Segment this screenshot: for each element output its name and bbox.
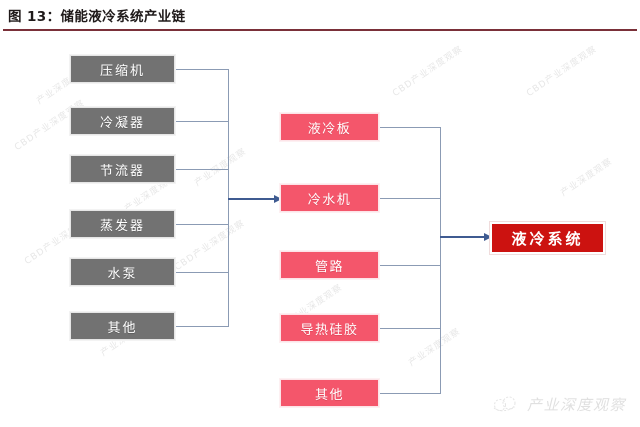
arrow-shaft xyxy=(440,236,484,238)
watermark-tile: 产业深度观察 xyxy=(405,324,462,368)
node-chiller[interactable]: 冷水机 xyxy=(280,184,379,212)
flow-arrow-midstream-to-downstream xyxy=(440,236,492,245)
arrow-shaft xyxy=(228,198,274,200)
title-divider xyxy=(3,29,637,31)
node-upstream-other[interactable]: 其他 xyxy=(70,312,175,340)
connector-left-4 xyxy=(174,224,229,225)
watermark-tile: 产业深度观察 xyxy=(557,154,614,198)
connector-mid-bus xyxy=(440,127,441,394)
node-piping[interactable]: 管路 xyxy=(280,251,379,279)
node-liquid-cooling-system[interactable]: 液冷系统 xyxy=(490,222,605,254)
watermark-tile: 产业深度观察 xyxy=(191,144,248,188)
node-compressor[interactable]: 压缩机 xyxy=(70,55,175,83)
node-throttle[interactable]: 节流器 xyxy=(70,155,175,183)
page-title: 图 13：储能液冷系统产业链 xyxy=(8,5,186,25)
brand-watermark: 产业深度观察 xyxy=(490,393,626,415)
watermark-tile: CBD产业深度观察 xyxy=(389,42,465,99)
cloud-logo-icon xyxy=(490,393,520,415)
node-thermal-silicone[interactable]: 导热硅胶 xyxy=(280,314,379,342)
node-evaporator[interactable]: 蒸发器 xyxy=(70,210,175,238)
node-liquid-cooling-plate[interactable]: 液冷板 xyxy=(280,113,379,141)
node-condenser[interactable]: 冷凝器 xyxy=(70,107,175,135)
figure-canvas: 图 13：储能液冷系统产业链 CBD产业深度观察 产业深度观察 CBD产业深度观… xyxy=(0,0,640,427)
connector-mid-4 xyxy=(379,328,440,329)
figure-header: 图 13：储能液冷系统产业链 xyxy=(0,0,640,33)
flow-arrow-upstream-to-midstream xyxy=(228,198,282,207)
connector-left-3 xyxy=(174,169,229,170)
connector-left-1 xyxy=(174,69,229,70)
connector-left-5 xyxy=(174,272,229,273)
node-water-pump[interactable]: 水泵 xyxy=(70,258,175,286)
brand-watermark-label: 产业深度观察 xyxy=(527,394,626,415)
connector-left-2 xyxy=(174,121,229,122)
connector-left-6 xyxy=(174,326,229,327)
connector-mid-2 xyxy=(379,198,440,199)
node-midstream-other[interactable]: 其他 xyxy=(280,379,379,407)
connector-mid-1 xyxy=(379,127,440,128)
connector-mid-5 xyxy=(379,393,440,394)
connector-mid-3 xyxy=(379,265,440,266)
watermark-tile: CBD产业深度观察 xyxy=(523,42,599,99)
